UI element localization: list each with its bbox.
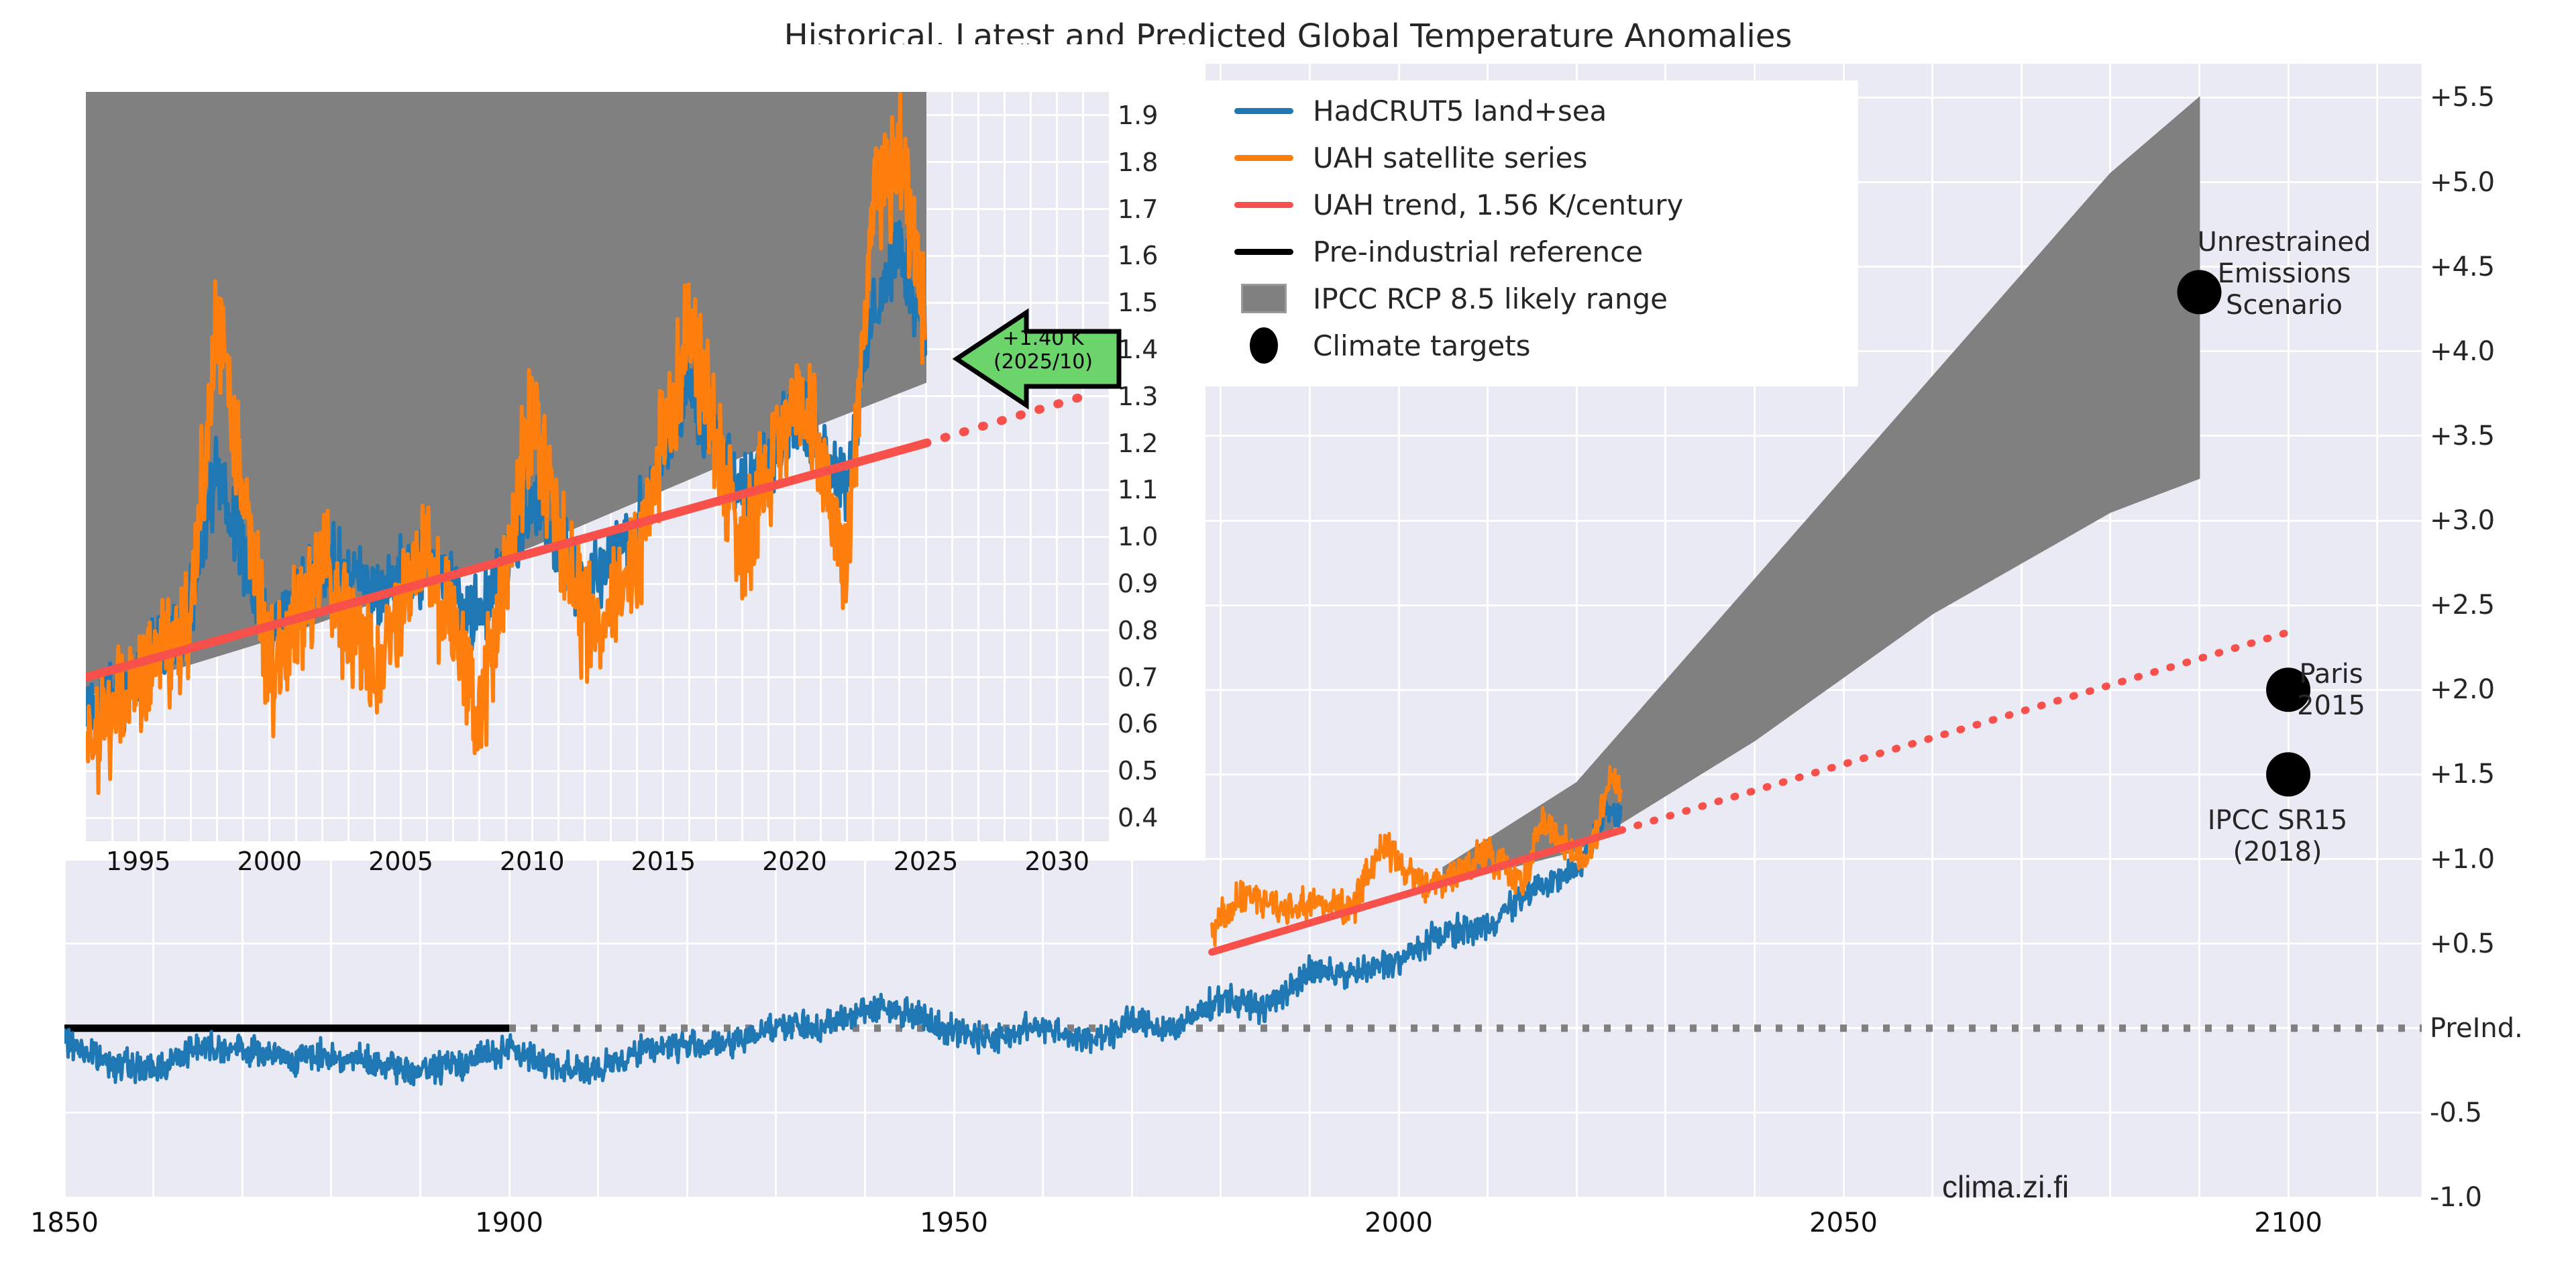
inset-y-tick: 1.1 [1118, 475, 1158, 504]
inset-y-tick: 1.7 [1118, 195, 1158, 224]
legend-line-swatch [1232, 186, 1295, 223]
inset-x-tick: 2030 [1024, 847, 1089, 876]
annotation-unrestrained-line1: Unrestrained [2173, 227, 2395, 258]
inset-y-tick: 1.0 [1118, 522, 1158, 551]
annotation-ipcc-sr15: IPCC SR15 (2018) [2167, 805, 2388, 868]
annotation-sr15-line1: IPCC SR15 [2167, 805, 2388, 837]
arrow-label-line1: +1.40 K [976, 327, 1110, 351]
annotation-unrestrained-line2: Emissions [2173, 258, 2395, 290]
legend-item-label: UAH trend, 1.56 K/century [1313, 189, 1683, 221]
legend-item-label: Pre-industrial reference [1313, 235, 1643, 268]
arrow-label-line2: (2025/10) [976, 351, 1110, 374]
inset-y-tick: 0.4 [1118, 803, 1158, 833]
inset-y-tick: 0.8 [1118, 616, 1158, 645]
legend-item[interactable]: UAH trend, 1.56 K/century [1232, 186, 1683, 223]
legend-item-label: UAH satellite series [1313, 142, 1587, 174]
legend-dot-swatch [1232, 327, 1295, 364]
legend-line-swatch [1232, 93, 1295, 129]
chart-legend: HadCRUT5 land+seaUAH satellite seriesUAH… [1205, 80, 1858, 386]
legend-line-swatch [1232, 233, 1295, 270]
inset-chart-plot-area [86, 92, 1110, 841]
legend-dot-swatch-icon [1250, 327, 1278, 364]
inset-x-tick: 2025 [894, 847, 959, 876]
annotation-unrestrained-line3: Scenario [2173, 290, 2395, 321]
legend-line-swatch-icon [1234, 249, 1293, 255]
main-y-tick: -1.0 [2430, 1182, 2482, 1213]
main-y-tick: +4.0 [2430, 336, 2495, 367]
inset-chart-canvas [86, 92, 1110, 841]
legend-item[interactable]: HadCRUT5 land+sea [1232, 93, 1607, 129]
inset-y-tick: 0.7 [1118, 663, 1158, 692]
main-x-tick: 2000 [1364, 1207, 1433, 1238]
main-y-tick: +3.0 [2430, 505, 2495, 536]
inset-y-tick: 1.9 [1118, 101, 1158, 130]
legend-item-label: HadCRUT5 land+sea [1313, 95, 1607, 127]
legend-line-swatch [1232, 140, 1295, 176]
inset-x-tick: 2015 [631, 847, 696, 876]
inset-chart-card: 0.40.50.60.70.80.91.01.11.21.31.41.51.61… [31, 44, 1205, 861]
inset-x-tick: 2005 [368, 847, 433, 876]
inset-y-tick: 0.5 [1118, 756, 1158, 786]
annotation-paris-line1: Paris [2254, 659, 2408, 690]
main-x-tick: 2050 [1809, 1207, 1878, 1238]
inset-x-tick: 2010 [500, 847, 565, 876]
annotation-sr15-line2: (2018) [2167, 837, 2388, 868]
legend-patch-swatch [1232, 280, 1295, 317]
main-y-tick: PreInd. [2430, 1013, 2523, 1044]
inset-x-tick: 1995 [106, 847, 171, 876]
main-y-tick: +2.0 [2430, 674, 2495, 705]
main-y-tick: +4.5 [2430, 252, 2495, 282]
main-x-tick: 1850 [30, 1207, 99, 1238]
main-y-tick: +3.5 [2430, 421, 2495, 451]
main-x-tick: 2100 [2254, 1207, 2322, 1238]
legend-line-swatch-icon [1234, 202, 1293, 208]
latest-anomaly-arrow-label: +1.40 K (2025/10) [976, 327, 1110, 374]
legend-item[interactable]: Climate targets [1232, 327, 1531, 364]
main-y-tick: +2.5 [2430, 590, 2495, 621]
main-y-tick: +5.5 [2430, 82, 2495, 113]
annotation-paris-line2: 2015 [2254, 690, 2408, 722]
legend-item[interactable]: IPCC RCP 8.5 likely range [1232, 280, 1668, 317]
legend-item[interactable]: Pre-industrial reference [1232, 233, 1643, 270]
main-x-tick: 1950 [920, 1207, 988, 1238]
main-y-tick: +1.0 [2430, 844, 2495, 875]
legend-line-swatch-icon [1234, 155, 1293, 161]
main-x-tick: 1900 [475, 1207, 543, 1238]
legend-line-swatch-icon [1234, 108, 1293, 114]
inset-y-tick: 1.6 [1118, 241, 1158, 270]
inset-y-tick: 0.9 [1118, 569, 1158, 598]
annotation-paris: Paris 2015 [2254, 659, 2408, 722]
watermark: clima.zi.fi [1942, 1169, 2069, 1205]
legend-item-label: IPCC RCP 8.5 likely range [1313, 282, 1668, 315]
main-y-tick: +5.0 [2430, 167, 2495, 198]
inset-y-tick: 1.8 [1118, 148, 1158, 177]
inset-y-tick: 1.2 [1118, 429, 1158, 458]
legend-patch-swatch-icon [1241, 284, 1287, 313]
inset-x-tick: 2020 [762, 847, 827, 876]
main-y-tick: +1.5 [2430, 759, 2495, 790]
main-y-tick: +0.5 [2430, 928, 2495, 959]
legend-item-label: Climate targets [1313, 329, 1531, 362]
annotation-unrestrained-emissions: Unrestrained Emissions Scenario [2173, 227, 2395, 322]
legend-item[interactable]: UAH satellite series [1232, 140, 1587, 176]
inset-x-tick: 2000 [237, 847, 303, 876]
inset-y-tick: 0.6 [1118, 709, 1158, 739]
main-y-tick: -0.5 [2430, 1097, 2482, 1128]
